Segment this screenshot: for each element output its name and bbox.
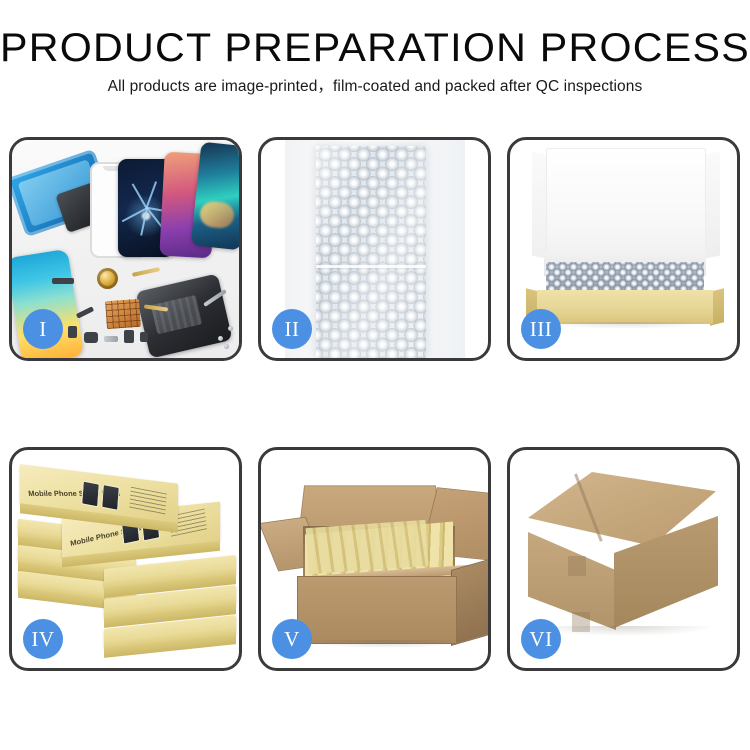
small-part <box>68 326 77 338</box>
step-badge-5: V <box>272 619 312 659</box>
box-lid-back-panel <box>546 148 706 264</box>
screw-part <box>224 344 229 349</box>
page-subtitle: All products are image-printed，film-coat… <box>0 77 750 97</box>
small-part <box>52 278 74 284</box>
drop-shadow <box>301 640 471 648</box>
step-badge-4: IV <box>23 619 63 659</box>
step-badge-2: II <box>272 309 312 349</box>
carton-hand-hole <box>568 556 586 576</box>
small-part <box>124 330 134 343</box>
screen-crack-line <box>140 208 147 236</box>
process-step-panel-1: I <box>9 137 242 361</box>
box-phone-thumbnail <box>101 484 120 511</box>
bubble-wrapped-product <box>316 146 426 358</box>
box-phone-thumbnail <box>81 480 100 507</box>
screen-crack-line <box>146 181 157 208</box>
header: PRODUCT PREPARATION PROCESS All products… <box>0 26 750 97</box>
small-part <box>140 332 148 342</box>
box-front-panel <box>537 290 713 324</box>
process-step-grid: I II <box>9 137 741 671</box>
copper-grid-chip-part <box>105 299 141 329</box>
process-step-panel-6: VI <box>507 447 740 671</box>
process-step-panel-3: III <box>507 137 740 361</box>
process-step-panel-4: Mobile Phone Spare Parts Mobile Phone Sp… <box>9 447 242 671</box>
small-part <box>104 336 118 342</box>
screw-part <box>228 326 233 331</box>
process-step-panel-5: V <box>258 447 491 671</box>
page-title: PRODUCT PREPARATION PROCESS <box>0 26 750 70</box>
process-step-panel-2: II <box>258 137 491 361</box>
plastic-sheen <box>316 146 426 358</box>
packed-yellow-boxes <box>306 520 429 574</box>
stacked-box-labeled: Mobile Phone Spare Parts <box>20 464 178 523</box>
drop-shadow <box>540 322 710 329</box>
step-badge-6: VI <box>521 619 561 659</box>
drop-shadow <box>534 626 714 636</box>
product-preparation-infographic: PRODUCT PREPARATION PROCESS All products… <box>0 0 750 750</box>
box-side <box>104 634 236 658</box>
screen-crack-line <box>132 183 147 208</box>
small-part <box>84 332 98 343</box>
step-badge-1: I <box>23 309 63 349</box>
step-badge-3: III <box>521 309 561 349</box>
carton-front-panel <box>297 576 457 644</box>
copper-coil-part <box>97 268 118 289</box>
screw-part <box>218 336 223 341</box>
